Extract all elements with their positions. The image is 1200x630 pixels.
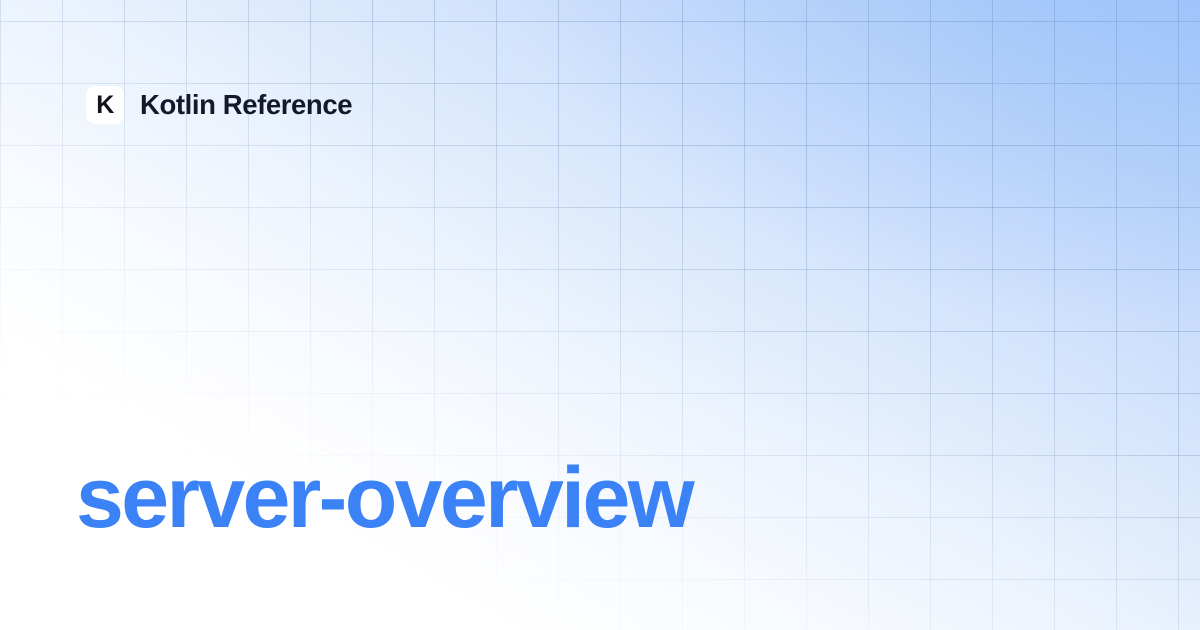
page-title: server-overview (76, 455, 692, 541)
social-preview-card: K Kotlin Reference server-overview (0, 0, 1200, 630)
site-name: Kotlin Reference (140, 91, 352, 119)
header: K Kotlin Reference (86, 86, 352, 124)
kotlin-k-logo-icon: K (86, 86, 124, 124)
logo-letter: K (96, 93, 114, 118)
